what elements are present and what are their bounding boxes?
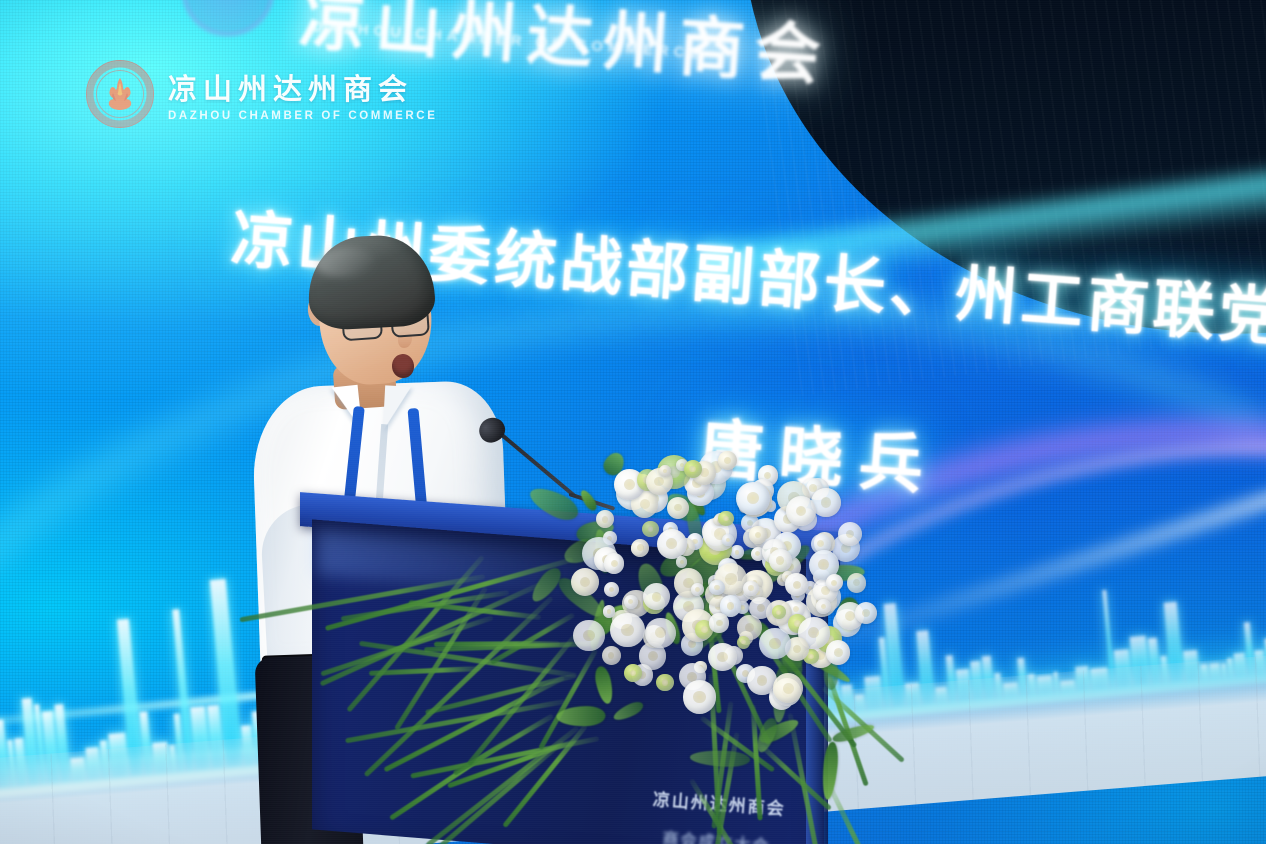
- flower-center: [748, 585, 754, 591]
- flower-center: [821, 497, 832, 508]
- chamber-seal-icon: [86, 60, 154, 128]
- flower-center: [727, 602, 735, 610]
- flower-bloom: [643, 583, 670, 610]
- flower-bloom: [847, 573, 867, 593]
- flower-bloom: [772, 605, 786, 619]
- flower-bloom: [736, 482, 769, 515]
- flower-bloom: [602, 646, 621, 665]
- flower-center: [783, 683, 794, 694]
- flower-center: [793, 606, 799, 612]
- flower-center: [630, 670, 636, 676]
- flower-bloom: [656, 674, 674, 692]
- flower-bloom: [749, 597, 772, 620]
- watermark: 凉山州达州商会 DAZHOU CHAMBER OF COMMERCE: [86, 60, 437, 128]
- flower-center: [741, 640, 746, 645]
- flower-bloom: [683, 680, 717, 714]
- flower-center: [662, 679, 668, 685]
- flower-center: [757, 675, 767, 685]
- flower-center: [648, 526, 654, 532]
- flower-center: [621, 624, 633, 636]
- flower-center: [608, 652, 615, 659]
- flower-center: [755, 532, 761, 538]
- flower-bloom: [826, 574, 843, 591]
- flower-bloom: [708, 643, 737, 672]
- flower-bloom: [709, 613, 728, 632]
- floral-arrangement: [470, 430, 910, 844]
- flower-center: [602, 516, 608, 522]
- flower-bloom: [624, 595, 638, 609]
- foliage-leaf: [526, 482, 583, 526]
- foliage-leaf: [612, 699, 646, 724]
- flower-center: [655, 627, 666, 638]
- speaker-hair: [306, 233, 437, 331]
- flower-center: [817, 540, 824, 547]
- flower-bloom: [631, 539, 649, 557]
- flower-center: [714, 585, 720, 591]
- flower-bloom: [718, 511, 733, 526]
- flower-center: [663, 469, 667, 473]
- event-photo: 凉山州达州商会 DAZHOU CHAMBER OF COMMERCE 凉山州委统…: [0, 0, 1266, 844]
- flower-bloom: [624, 664, 642, 682]
- flower-bloom: [667, 497, 689, 519]
- flower-center: [666, 538, 677, 549]
- flower-bloom: [749, 526, 767, 544]
- flower-bloom: [722, 534, 734, 546]
- flower-bloom: [642, 521, 658, 537]
- flower-center: [624, 479, 635, 490]
- flower-bloom: [838, 522, 862, 546]
- flower-bloom: [826, 640, 851, 665]
- flower-center: [793, 645, 802, 654]
- flower-center: [640, 499, 650, 509]
- flower-center: [723, 516, 729, 522]
- flower-center: [776, 556, 784, 564]
- flower-bloom: [684, 460, 702, 478]
- flower-bloom: [718, 451, 737, 470]
- foliage-leaf: [821, 741, 840, 800]
- flower-center: [680, 560, 684, 564]
- flower-center: [862, 609, 870, 617]
- flower-bloom: [645, 618, 676, 649]
- flower-center: [725, 573, 736, 584]
- flower-center: [853, 579, 860, 586]
- flower-bloom: [737, 636, 750, 649]
- flower-bloom: [730, 545, 744, 559]
- flower-center: [695, 587, 700, 592]
- flower-bloom: [657, 529, 687, 559]
- flower-bloom: [573, 620, 604, 651]
- flower-center: [611, 560, 618, 567]
- flower-center: [735, 550, 740, 555]
- flower-bloom: [604, 553, 624, 573]
- flower-center: [724, 457, 731, 464]
- flower-center: [716, 620, 723, 627]
- flower-center: [654, 477, 664, 487]
- flower-center: [652, 592, 662, 602]
- flower-center: [845, 611, 855, 621]
- foliage-leaf: [556, 706, 605, 727]
- flower-center: [747, 520, 753, 526]
- flower-center: [674, 504, 682, 512]
- palm-frond: [826, 781, 901, 844]
- flower-center: [808, 654, 814, 660]
- foliage-leaf: [689, 749, 750, 767]
- watermark-text: 凉山州达州商会 DAZHOU CHAMBER OF COMMERCE: [168, 66, 437, 122]
- flower-center: [689, 466, 696, 473]
- flower-bloom: [769, 549, 792, 572]
- flower-bloom: [785, 573, 807, 595]
- flower-center: [793, 581, 801, 589]
- flower-center: [796, 506, 807, 517]
- flower-bloom: [759, 628, 790, 659]
- flower-center: [818, 559, 829, 570]
- watermark-title-cn: 凉山州达州商会: [168, 66, 437, 108]
- phoenix-flame-icon: [105, 77, 135, 111]
- flower-center: [580, 577, 590, 587]
- flower-center: [717, 652, 727, 662]
- flower-bloom: [855, 602, 877, 624]
- flower-bloom: [709, 580, 725, 596]
- flower-center: [776, 610, 781, 615]
- foliage-leaf: [593, 665, 615, 705]
- flower-bloom: [571, 568, 599, 596]
- flower-center: [757, 604, 765, 612]
- flower-bloom: [786, 496, 816, 526]
- flower-center: [648, 651, 658, 661]
- flower-center: [701, 626, 708, 633]
- flower-bloom: [816, 599, 831, 614]
- watermark-title-en: DAZHOU CHAMBER OF COMMERCE: [168, 110, 437, 122]
- flower-center: [693, 691, 705, 703]
- flower-center: [745, 623, 754, 632]
- flower-center: [755, 551, 760, 556]
- flower-center: [821, 604, 826, 609]
- flower-center: [834, 648, 843, 657]
- flower-center: [846, 530, 855, 539]
- flower-bloom: [604, 582, 620, 598]
- flower-center: [628, 599, 633, 604]
- flower-center: [764, 472, 771, 479]
- flower-center: [607, 609, 612, 614]
- flower-center: [609, 587, 615, 593]
- flower-center: [726, 538, 730, 542]
- flower-center: [808, 627, 819, 638]
- flower-center: [583, 630, 594, 641]
- flower-bloom: [610, 613, 645, 648]
- flower-bloom: [743, 581, 759, 597]
- flower-center: [747, 492, 759, 504]
- flower-center: [769, 638, 780, 649]
- flower-center: [637, 544, 643, 550]
- flower-center: [831, 580, 837, 586]
- foliage-leaf: [578, 488, 599, 513]
